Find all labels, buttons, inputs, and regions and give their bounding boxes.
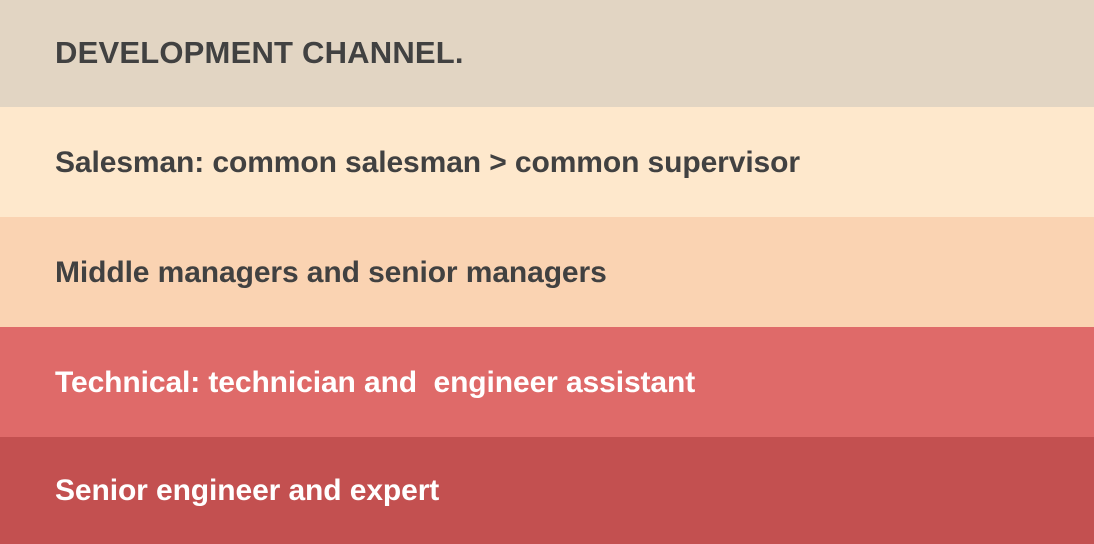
tier-row-senior-engineer[interactable]: Senior engineer and expert [0, 437, 1094, 544]
tier-row-managers[interactable]: Middle managers and senior managers [0, 217, 1094, 327]
tier-label-senior-engineer: Senior engineer and expert [55, 474, 439, 507]
tier-label-technical: Technical: technician and engineer assis… [55, 366, 695, 399]
diagram-header: DEVELOPMENT CHANNEL. [0, 0, 1094, 107]
page-title: DEVELOPMENT CHANNEL. [55, 36, 464, 70]
tier-label-salesman: Salesman: common salesman > common super… [55, 146, 800, 179]
tier-row-salesman[interactable]: Salesman: common salesman > common super… [0, 107, 1094, 217]
tier-label-managers: Middle managers and senior managers [55, 256, 607, 289]
tier-row-technical[interactable]: Technical: technician and engineer assis… [0, 327, 1094, 437]
development-channel-diagram: DEVELOPMENT CHANNEL. Salesman: common sa… [0, 0, 1094, 544]
